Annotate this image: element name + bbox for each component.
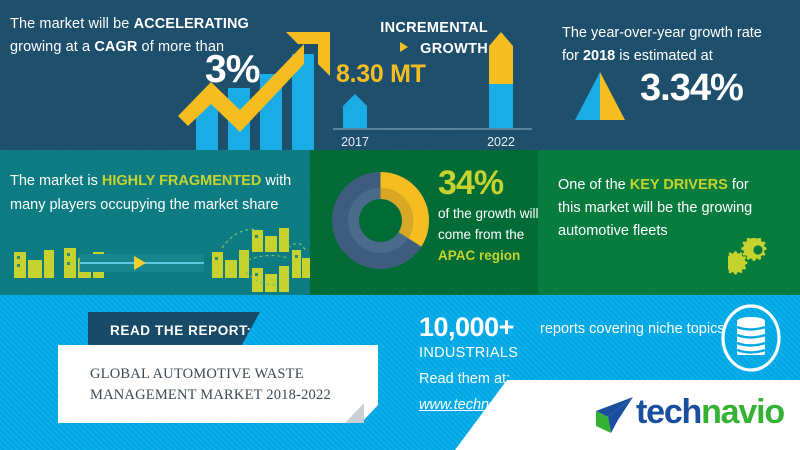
industry-label: INDUSTRIALS bbox=[419, 345, 518, 361]
panel-fragmented: The market is HIGHLY FRAGMENTED with man… bbox=[0, 150, 310, 295]
logo-text-tech: tech bbox=[636, 393, 701, 431]
city-buildings-fragmentation-icon bbox=[0, 228, 310, 295]
gears-icon bbox=[728, 238, 790, 293]
apac-value: 34% bbox=[438, 164, 503, 203]
yoy-text-b: is estimated at bbox=[615, 48, 713, 64]
drivers-statement: One of the KEY DRIVERS for this market w… bbox=[558, 174, 783, 243]
apac-region-label: APAC region bbox=[438, 248, 520, 263]
cagr-keyword: CAGR bbox=[94, 39, 137, 55]
drivers-text-a: One of the bbox=[558, 177, 630, 193]
report-title-card[interactable]: GLOBAL AUTOMOTIVE WASTE MANAGEMENT MARKE… bbox=[58, 345, 378, 423]
drivers-keyword: KEY DRIVERS bbox=[630, 177, 728, 193]
yoy-line1: The year-over-year growth rate bbox=[562, 25, 762, 41]
svg-text:2017: 2017 bbox=[341, 135, 369, 149]
drivers-line2: this market will be the growing bbox=[558, 200, 752, 216]
apac-line2: come from the bbox=[438, 227, 524, 242]
report-count: 10,000+ bbox=[419, 312, 514, 343]
technavio-paper-plane-icon bbox=[592, 395, 634, 435]
apac-statement: of the growth will come from the APAC re… bbox=[438, 203, 538, 266]
drivers-text-b: for bbox=[728, 177, 749, 193]
infographic-canvas: The market will be ACCELERATING growing … bbox=[0, 0, 800, 450]
yoy-statement: The year-over-year growth rate for 2018 … bbox=[562, 22, 787, 68]
fragmented-keyword: HIGHLY FRAGMENTED bbox=[102, 173, 262, 189]
yoy-value: 3.34% bbox=[640, 67, 743, 110]
read-them-at-label: Read them at: bbox=[419, 371, 510, 387]
technavio-wordmark: technavio bbox=[636, 393, 784, 432]
fragmented-text-a: The market is bbox=[10, 173, 102, 189]
svg-text:2022: 2022 bbox=[487, 135, 515, 149]
database-cylinder-icon bbox=[717, 303, 785, 373]
read-the-report-label: READ THE REPORT: bbox=[110, 323, 252, 338]
report-count-label: reports covering niche topics bbox=[540, 321, 725, 337]
panel-top-row: The market will be ACCELERATING growing … bbox=[0, 0, 800, 150]
logo-text-navio: navio bbox=[701, 393, 784, 431]
panel-footer: READ THE REPORT: GLOBAL AUTOMOTIVE WASTE… bbox=[0, 295, 800, 450]
cagr-text-a: The market will be bbox=[10, 16, 134, 32]
fragmented-line2: many players occupying the market share bbox=[10, 197, 278, 213]
growth-arrow-bars-icon bbox=[178, 24, 343, 150]
yoy-year: 2018 bbox=[583, 48, 615, 64]
drivers-line3: automotive fleets bbox=[558, 223, 668, 239]
donut-chart-icon bbox=[328, 168, 433, 273]
fragmented-statement: The market is HIGHLY FRAGMENTED with man… bbox=[10, 169, 308, 217]
panel-apac: 34% of the growth will come from the APA… bbox=[310, 150, 538, 295]
fragmented-text-b: with bbox=[261, 173, 291, 189]
growth-triangle-icon bbox=[575, 72, 625, 120]
report-title: GLOBAL AUTOMOTIVE WASTE MANAGEMENT MARKE… bbox=[90, 364, 360, 406]
incremental-growth-chart: 2017 2022 bbox=[325, 28, 540, 150]
yoy-text-a: for bbox=[562, 48, 583, 64]
panel-key-drivers: One of the KEY DRIVERS for this market w… bbox=[538, 150, 800, 295]
cagr-text-b: growing at a bbox=[10, 39, 94, 55]
apac-line1: of the growth will bbox=[438, 206, 538, 221]
